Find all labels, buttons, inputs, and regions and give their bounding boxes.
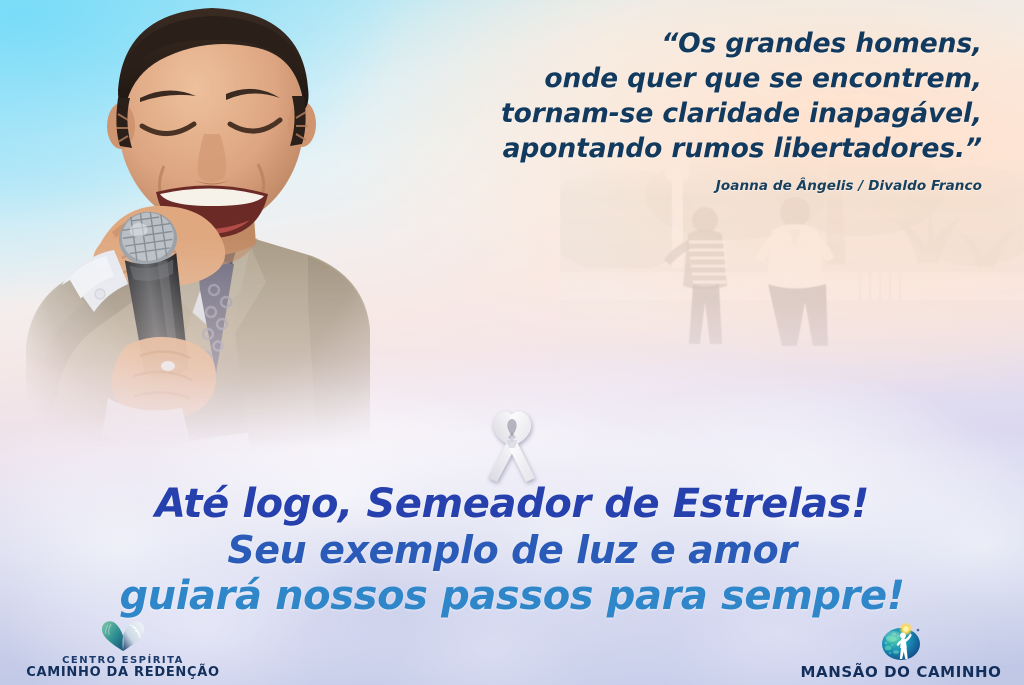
quote-attribution: Joanna de Ângelis / Divaldo Franco (422, 178, 982, 194)
quote-line-2: onde quer que se encontrem, (422, 61, 982, 96)
logo-line-2: CAMINHO DA REDENÇÃO (26, 666, 220, 681)
logo-centro-espirita: CENTRO ESPÍRITA CAMINHO DA REDENÇÃO (8, 619, 238, 681)
quote-line-1: “Os grandes homens, (422, 26, 982, 61)
headline-line-2: Seu exemplo de luz e amor (0, 531, 1024, 569)
quote-line-3: tornam-se claridade inapagável, (422, 96, 982, 131)
portrait-smiling-man-with-microphone (8, 0, 428, 464)
white-awareness-ribbon-icon (475, 408, 549, 484)
globe-figure-icon (880, 622, 922, 662)
quote-block: “Os grandes homens, onde quer que se enc… (422, 26, 982, 194)
headline-block: Até logo, Semeador de Estrelas! Seu exem… (0, 484, 1024, 616)
quote-line-4: apontando rumos libertadores.” (422, 131, 982, 166)
headline-line-1: Até logo, Semeador de Estrelas! (0, 484, 1024, 524)
heart-hands-icon (100, 619, 146, 653)
logo-mansao-do-caminho: MANSÃO DO CAMINHO (786, 622, 1016, 681)
headline-line-3: guiará nossos passos para sempre! (0, 576, 1024, 616)
logo-label: MANSÃO DO CAMINHO (800, 664, 1001, 681)
logo-mansao-text: MANSÃO DO CAMINHO (800, 664, 1001, 681)
logo-centro-espirita-text: CENTRO ESPÍRITA CAMINHO DA REDENÇÃO (26, 655, 220, 681)
memorial-poster: “Os grandes homens, onde quer que se enc… (0, 0, 1024, 685)
